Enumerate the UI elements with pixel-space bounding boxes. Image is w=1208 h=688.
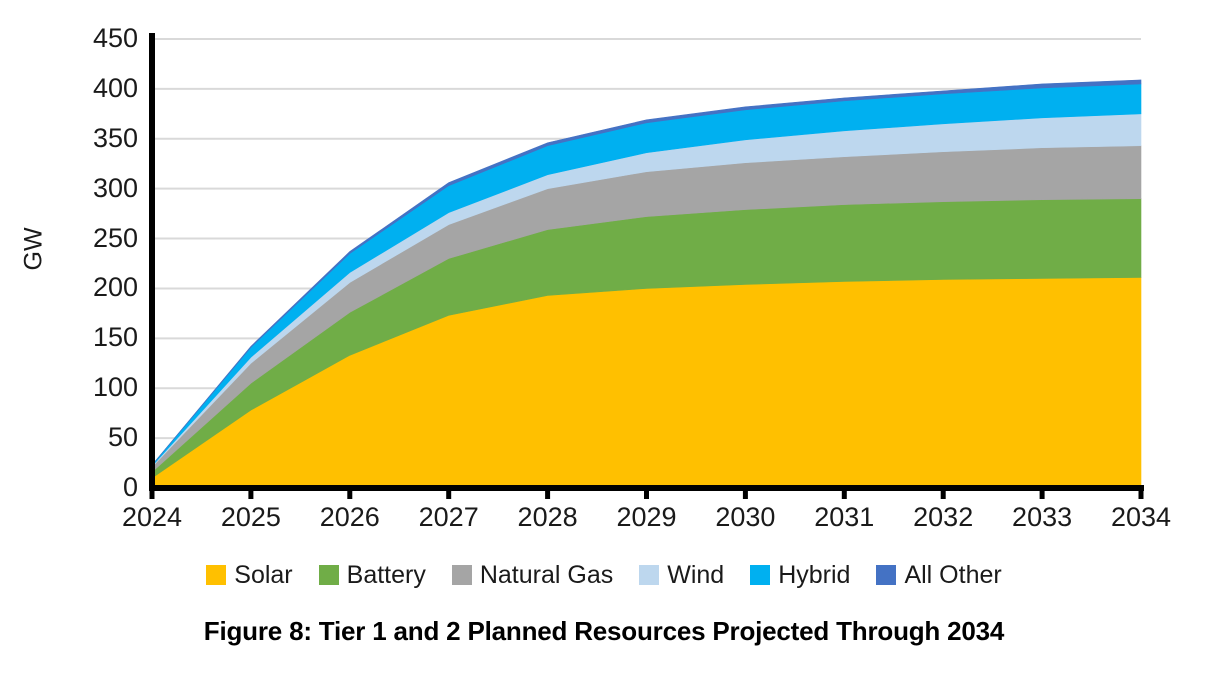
chart-plot-area: 0501001502002503003504004502024202520262… — [0, 0, 1208, 545]
x-axis-tick-label: 2032 — [888, 504, 998, 531]
x-axis-tick-label: 2028 — [493, 504, 603, 531]
y-axis-tick-label: 300 — [46, 175, 138, 202]
legend-swatch-icon — [319, 565, 339, 585]
x-axis-tick-label: 2024 — [97, 504, 207, 531]
legend-swatch-icon — [206, 565, 226, 585]
legend-label: Wind — [667, 563, 724, 588]
legend-label: Natural Gas — [480, 563, 613, 588]
figure-container: 0501001502002503003504004502024202520262… — [0, 0, 1208, 688]
x-axis-tick-label: 2027 — [394, 504, 504, 531]
y-axis-tick-label: 0 — [46, 474, 138, 501]
y-axis-title: GW — [20, 231, 49, 271]
stacked-area-chart — [0, 0, 1208, 545]
y-axis-tick-label: 150 — [46, 324, 138, 351]
y-axis-tick-label: 200 — [46, 274, 138, 301]
legend-item-battery[interactable]: Battery — [319, 563, 426, 588]
x-axis-tick-label: 2033 — [987, 504, 1097, 531]
legend-item-hybrid[interactable]: Hybrid — [750, 563, 850, 588]
legend-label: Hybrid — [778, 563, 850, 588]
legend-item-solar[interactable]: Solar — [206, 563, 292, 588]
legend-label: Solar — [234, 563, 292, 588]
legend-swatch-icon — [876, 565, 896, 585]
x-axis-tick-label: 2030 — [690, 504, 800, 531]
y-axis-tick-label: 100 — [46, 374, 138, 401]
legend-item-natural-gas[interactable]: Natural Gas — [452, 563, 613, 588]
y-axis-tick-label: 350 — [46, 125, 138, 152]
legend-swatch-icon — [639, 565, 659, 585]
legend-swatch-icon — [452, 565, 472, 585]
chart-legend: SolarBatteryNatural GasWindHybridAll Oth… — [0, 555, 1208, 595]
legend-label: All Other — [904, 563, 1001, 588]
x-axis-tick-label: 2031 — [789, 504, 899, 531]
figure-caption: Figure 8: Tier 1 and 2 Planned Resources… — [0, 616, 1208, 647]
x-axis-tick-label: 2034 — [1086, 504, 1196, 531]
y-axis-tick-label: 250 — [46, 225, 138, 252]
x-axis-tick-label: 2025 — [196, 504, 306, 531]
legend-swatch-icon — [750, 565, 770, 585]
legend-item-wind[interactable]: Wind — [639, 563, 724, 588]
y-axis-tick-label: 50 — [46, 424, 138, 451]
x-axis-tick-label: 2029 — [592, 504, 702, 531]
y-axis-tick-label: 450 — [46, 25, 138, 52]
x-axis-tick-label: 2026 — [295, 504, 405, 531]
legend-label: Battery — [347, 563, 426, 588]
series-areas — [152, 80, 1141, 488]
legend-item-all-other[interactable]: All Other — [876, 563, 1001, 588]
y-axis-tick-label: 400 — [46, 75, 138, 102]
